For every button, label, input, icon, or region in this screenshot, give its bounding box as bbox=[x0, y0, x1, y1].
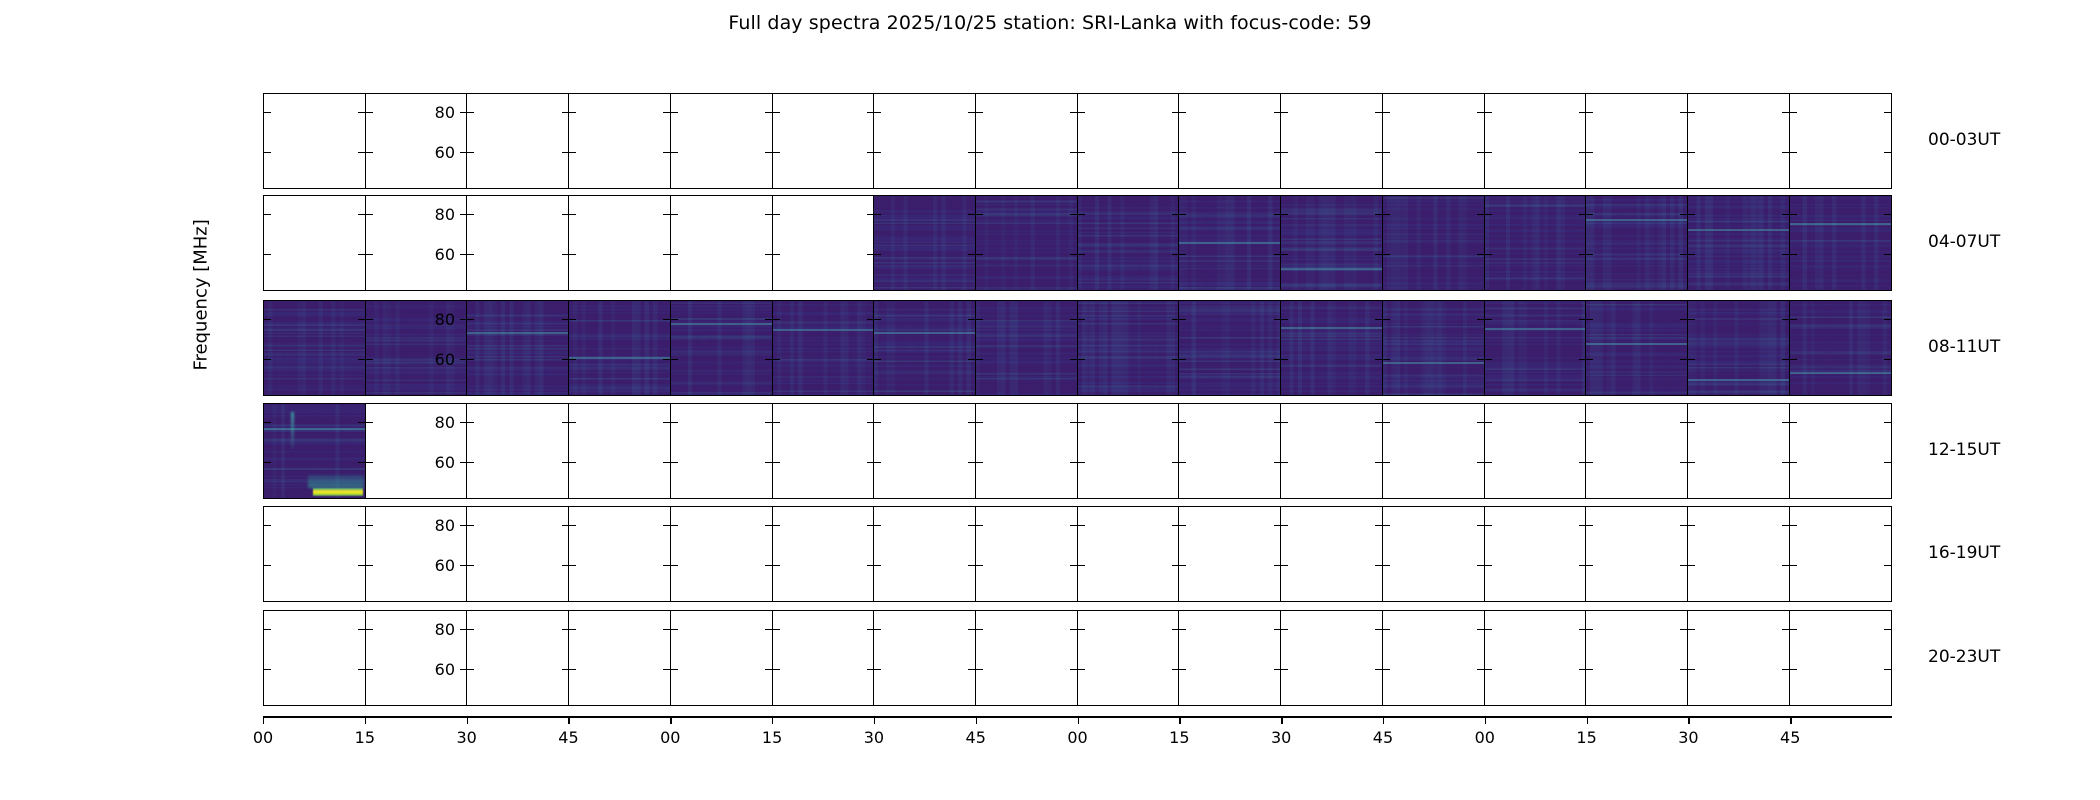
empty-panel bbox=[1688, 507, 1789, 601]
y-tick-mark bbox=[1485, 629, 1492, 630]
y-tick-mark bbox=[1078, 319, 1085, 320]
y-tick-mark bbox=[773, 629, 780, 630]
spectrogram-panel[interactable] bbox=[1484, 195, 1587, 291]
empty-panel bbox=[569, 196, 670, 290]
y-tick-mark bbox=[1790, 359, 1797, 360]
spectrogram-panel[interactable] bbox=[1484, 300, 1587, 396]
y-tick-mark bbox=[264, 629, 271, 630]
x-tick-label: 30 bbox=[1271, 728, 1291, 747]
y-tick-mark bbox=[569, 112, 576, 113]
y-tick-mark bbox=[773, 319, 780, 320]
y-tick-mark bbox=[366, 319, 373, 320]
y-tick-mark bbox=[1383, 669, 1390, 670]
y-tick-mark bbox=[264, 152, 271, 153]
x-tick-mark bbox=[1587, 716, 1588, 724]
y-tick-mark bbox=[1179, 462, 1186, 463]
y-tick-mark bbox=[1485, 669, 1492, 670]
spectrogram-panel[interactable] bbox=[1687, 403, 1790, 499]
spectrogram-panel[interactable] bbox=[1687, 300, 1790, 396]
spectrogram-panel[interactable] bbox=[1382, 403, 1485, 499]
spectrogram-panel[interactable] bbox=[670, 300, 773, 396]
y-tick-mark bbox=[1281, 669, 1288, 670]
empty-panel bbox=[874, 94, 975, 188]
y-tick-mark bbox=[874, 422, 881, 423]
spectral-line bbox=[1790, 372, 1891, 374]
y-tick-label: 60 bbox=[395, 556, 455, 575]
spectrogram-panel[interactable] bbox=[1382, 195, 1485, 291]
spectrogram-panel[interactable] bbox=[1280, 195, 1383, 291]
y-tick-mark bbox=[1586, 112, 1593, 113]
spectrogram-panel[interactable] bbox=[1077, 195, 1180, 291]
y-tick-mark bbox=[1688, 525, 1695, 526]
y-tick-mark bbox=[569, 359, 576, 360]
spectrogram-panel[interactable] bbox=[1484, 610, 1587, 706]
y-tick-mark bbox=[264, 319, 271, 320]
y-tick-mark bbox=[1586, 629, 1593, 630]
spectrogram-noise bbox=[1790, 196, 1891, 290]
spectral-line bbox=[1790, 223, 1891, 225]
y-tick-mark bbox=[671, 152, 678, 153]
spectrogram-panel[interactable] bbox=[1077, 93, 1180, 189]
spectral-line bbox=[1688, 379, 1789, 381]
y-tick-mark bbox=[467, 112, 474, 113]
spectrogram-image bbox=[264, 404, 365, 498]
spectrogram-panel[interactable] bbox=[1280, 93, 1383, 189]
y-tick-mark bbox=[1281, 319, 1288, 320]
x-tick-label: 15 bbox=[1576, 728, 1596, 747]
spectrogram-panel[interactable] bbox=[1789, 195, 1892, 291]
y-tick-mark bbox=[264, 462, 271, 463]
spectral-line bbox=[1179, 242, 1280, 244]
spectrogram-panel[interactable] bbox=[670, 195, 773, 291]
y-tick-mark bbox=[1179, 669, 1186, 670]
spectrogram-panel[interactable] bbox=[466, 93, 569, 189]
y-tick-mark bbox=[1586, 525, 1593, 526]
y-tick-mark bbox=[976, 525, 983, 526]
y-tick-mark bbox=[1179, 629, 1186, 630]
spectrogram-panel[interactable] bbox=[1280, 506, 1383, 602]
spectrogram-image bbox=[1179, 301, 1280, 395]
y-tick-mark bbox=[1884, 462, 1891, 463]
spectrogram-panel[interactable] bbox=[263, 300, 366, 396]
spectral-line bbox=[1586, 219, 1687, 221]
spectrogram-panel[interactable] bbox=[1789, 300, 1892, 396]
y-tick-mark bbox=[1790, 525, 1797, 526]
x-tick-label: 45 bbox=[966, 728, 986, 747]
spectrogram-noise bbox=[773, 301, 874, 395]
spectrogram-panel[interactable] bbox=[1178, 300, 1281, 396]
spectrogram-panel[interactable] bbox=[1178, 195, 1281, 291]
y-tick-mark bbox=[773, 359, 780, 360]
spectrogram-panel[interactable] bbox=[466, 403, 569, 499]
y-tick-mark bbox=[1688, 462, 1695, 463]
y-tick-mark bbox=[1688, 422, 1695, 423]
empty-panel bbox=[671, 404, 772, 498]
row-label-20-23ut: 20-23UT bbox=[1928, 647, 2000, 667]
spectrogram-panel[interactable] bbox=[263, 195, 366, 291]
spectrogram-image bbox=[1383, 301, 1484, 395]
row-label-16-19ut: 16-19UT bbox=[1928, 543, 2000, 563]
spectrogram-panel[interactable] bbox=[772, 506, 875, 602]
spectrogram-panel[interactable] bbox=[670, 506, 773, 602]
spectrogram-panel[interactable] bbox=[1178, 610, 1281, 706]
y-tick-mark bbox=[569, 422, 576, 423]
empty-panel bbox=[773, 196, 874, 290]
empty-panel bbox=[264, 94, 365, 188]
y-tick-mark bbox=[874, 565, 881, 566]
empty-panel bbox=[467, 94, 568, 188]
x-tick-mark bbox=[365, 716, 366, 724]
spectrogram-image bbox=[874, 301, 975, 395]
spectral-line bbox=[467, 332, 568, 334]
empty-panel bbox=[976, 507, 1077, 601]
row-label-08-11ut: 08-11UT bbox=[1928, 337, 2000, 357]
spectrogram-panel[interactable] bbox=[1382, 93, 1485, 189]
spectrogram-image bbox=[874, 196, 975, 290]
y-tick-mark bbox=[264, 359, 271, 360]
y-tick-mark bbox=[366, 112, 373, 113]
empty-panel bbox=[1586, 611, 1687, 705]
spectrogram-panel[interactable] bbox=[873, 93, 976, 189]
empty-panel bbox=[1179, 404, 1280, 498]
y-tick-mark bbox=[1790, 669, 1797, 670]
spectrogram-noise bbox=[1281, 301, 1382, 395]
spectrogram-noise bbox=[976, 196, 1077, 290]
spectrogram-panel[interactable] bbox=[1280, 610, 1383, 706]
y-tick-mark bbox=[1884, 112, 1891, 113]
x-tick-mark bbox=[1383, 716, 1384, 724]
spectrogram-row-04-07ut bbox=[263, 195, 1892, 291]
y-tick-mark bbox=[1281, 214, 1288, 215]
y-tick-mark bbox=[1884, 525, 1891, 526]
y-tick-mark bbox=[569, 214, 576, 215]
spectrogram-panel[interactable] bbox=[873, 610, 976, 706]
y-tick-mark bbox=[467, 214, 474, 215]
y-tick-mark bbox=[1688, 669, 1695, 670]
spectrogram-panel[interactable] bbox=[466, 300, 569, 396]
y-tick-mark bbox=[1179, 112, 1186, 113]
spectrogram-panel[interactable] bbox=[975, 506, 1078, 602]
radio-burst-halo bbox=[308, 475, 364, 488]
spectrogram-image bbox=[976, 196, 1077, 290]
spectrogram-panel[interactable] bbox=[772, 93, 875, 189]
spectrogram-panel[interactable] bbox=[1789, 506, 1892, 602]
spectrogram-panel[interactable] bbox=[1077, 403, 1180, 499]
spectrogram-image bbox=[1281, 301, 1382, 395]
y-tick-mark bbox=[874, 112, 881, 113]
y-tick-mark bbox=[773, 214, 780, 215]
y-tick-mark bbox=[671, 669, 678, 670]
y-tick-mark bbox=[264, 525, 271, 526]
y-tick-mark bbox=[1281, 254, 1288, 255]
spectrogram-noise bbox=[1078, 301, 1179, 395]
y-tick-mark bbox=[264, 669, 271, 670]
x-tick-mark bbox=[1688, 716, 1689, 724]
y-tick-mark bbox=[1790, 112, 1797, 113]
x-tick-label: 15 bbox=[1169, 728, 1189, 747]
spectrogram-image bbox=[671, 301, 772, 395]
y-tick-label: 80 bbox=[395, 205, 455, 224]
spectrogram-panel[interactable] bbox=[1178, 403, 1281, 499]
spectral-line bbox=[1383, 362, 1484, 364]
y-tick-mark bbox=[1790, 462, 1797, 463]
spectrogram-panel[interactable] bbox=[466, 506, 569, 602]
spectrogram-panel[interactable] bbox=[1484, 93, 1587, 189]
empty-panel bbox=[1383, 94, 1484, 188]
y-tick-mark bbox=[1383, 319, 1390, 320]
y-tick-mark bbox=[467, 525, 474, 526]
spectrogram-row-00-03ut bbox=[263, 93, 1892, 189]
y-tick-label: 80 bbox=[395, 310, 455, 329]
x-tick-label: 15 bbox=[762, 728, 782, 747]
spectrogram-row-20-23ut bbox=[263, 610, 1892, 706]
y-tick-mark bbox=[1688, 214, 1695, 215]
y-tick-mark bbox=[1884, 422, 1891, 423]
y-tick-mark bbox=[1485, 525, 1492, 526]
y-tick-mark bbox=[1688, 254, 1695, 255]
spectrogram-panel[interactable] bbox=[466, 195, 569, 291]
y-tick-mark bbox=[1884, 359, 1891, 360]
empty-panel bbox=[1179, 94, 1280, 188]
spectral-line bbox=[874, 332, 975, 334]
y-tick-mark bbox=[773, 254, 780, 255]
spectrogram-panel[interactable] bbox=[1178, 506, 1281, 602]
spectrogram-image bbox=[1383, 196, 1484, 290]
y-tick-mark bbox=[1281, 462, 1288, 463]
spectrogram-noise bbox=[264, 301, 365, 395]
spectrogram-panel[interactable] bbox=[873, 300, 976, 396]
y-tick-mark bbox=[1586, 462, 1593, 463]
spectrogram-panel[interactable] bbox=[263, 403, 366, 499]
y-tick-mark bbox=[467, 422, 474, 423]
y-tick-mark bbox=[1078, 152, 1085, 153]
empty-panel bbox=[1383, 507, 1484, 601]
y-tick-mark bbox=[467, 565, 474, 566]
spectrogram-panel[interactable] bbox=[1077, 300, 1180, 396]
y-tick-mark bbox=[1383, 214, 1390, 215]
empty-panel bbox=[1586, 404, 1687, 498]
empty-panel bbox=[1586, 507, 1687, 601]
y-tick-mark bbox=[671, 629, 678, 630]
spectrogram-noise bbox=[1078, 196, 1179, 290]
spectrogram-panel[interactable] bbox=[568, 506, 671, 602]
spectrogram-panel[interactable] bbox=[1585, 610, 1688, 706]
x-tick-label: 45 bbox=[558, 728, 578, 747]
y-tick-mark bbox=[1790, 629, 1797, 630]
x-tick-mark bbox=[1281, 716, 1282, 724]
x-tick-mark bbox=[976, 716, 977, 724]
spectrogram-panel[interactable] bbox=[670, 93, 773, 189]
spectrogram-panel[interactable] bbox=[1687, 195, 1790, 291]
y-tick-mark bbox=[264, 254, 271, 255]
empty-panel bbox=[1078, 507, 1179, 601]
y-tick-mark bbox=[1485, 359, 1492, 360]
spectrogram-panel[interactable] bbox=[670, 403, 773, 499]
y-tick-mark bbox=[1884, 254, 1891, 255]
y-tick-mark bbox=[1383, 112, 1390, 113]
y-tick-mark bbox=[1383, 152, 1390, 153]
y-tick-mark bbox=[366, 629, 373, 630]
spectrogram-panel[interactable] bbox=[975, 300, 1078, 396]
spectrogram-panel[interactable] bbox=[263, 93, 366, 189]
spectrogram-noise bbox=[671, 301, 772, 395]
spectrogram-panel[interactable] bbox=[873, 403, 976, 499]
spectrogram-panel[interactable] bbox=[263, 610, 366, 706]
y-tick-mark bbox=[1179, 565, 1186, 566]
y-tick-label: 80 bbox=[395, 620, 455, 639]
empty-panel bbox=[976, 404, 1077, 498]
spectrogram-panel[interactable] bbox=[1280, 403, 1383, 499]
empty-panel bbox=[264, 611, 365, 705]
spectrogram-panel[interactable] bbox=[975, 195, 1078, 291]
y-tick-mark bbox=[467, 629, 474, 630]
spectrogram-panel[interactable] bbox=[1077, 506, 1180, 602]
empty-panel bbox=[1688, 404, 1789, 498]
y-tick-mark bbox=[1179, 525, 1186, 526]
spectrogram-panel[interactable] bbox=[568, 403, 671, 499]
x-tick-label: 00 bbox=[253, 728, 273, 747]
y-tick-mark bbox=[1383, 422, 1390, 423]
y-tick-mark bbox=[874, 669, 881, 670]
spectrogram-image bbox=[976, 301, 1077, 395]
spectrogram-image bbox=[1281, 196, 1382, 290]
spectrogram-panel[interactable] bbox=[1585, 506, 1688, 602]
spectrogram-panel[interactable] bbox=[873, 506, 976, 602]
y-tick-mark bbox=[976, 565, 983, 566]
spectrogram-image bbox=[1688, 196, 1789, 290]
spectrogram-panel[interactable] bbox=[1077, 610, 1180, 706]
spectrogram-panel[interactable] bbox=[568, 93, 671, 189]
x-tick-mark bbox=[467, 716, 468, 724]
spectrogram-panel[interactable] bbox=[1382, 300, 1485, 396]
x-tick-mark bbox=[874, 716, 875, 724]
spectrogram-panel[interactable] bbox=[1484, 506, 1587, 602]
spectrogram-panel[interactable] bbox=[1178, 93, 1281, 189]
y-tick-mark bbox=[671, 565, 678, 566]
spectrogram-panel[interactable] bbox=[670, 610, 773, 706]
y-tick-mark bbox=[1688, 565, 1695, 566]
empty-panel bbox=[1383, 404, 1484, 498]
spectrogram-image bbox=[773, 301, 874, 395]
y-tick-label: 80 bbox=[395, 516, 455, 535]
empty-panel bbox=[773, 611, 874, 705]
spectrogram-panel[interactable] bbox=[975, 610, 1078, 706]
empty-panel bbox=[467, 404, 568, 498]
spectrogram-noise bbox=[1688, 196, 1789, 290]
y-tick-mark bbox=[1281, 422, 1288, 423]
spectrogram-panel[interactable] bbox=[975, 403, 1078, 499]
spectrogram-panel[interactable] bbox=[568, 300, 671, 396]
spectrogram-panel[interactable] bbox=[466, 610, 569, 706]
spectrogram-panel[interactable] bbox=[772, 610, 875, 706]
spectrogram-panel[interactable] bbox=[772, 195, 875, 291]
spectrogram-noise bbox=[1485, 301, 1586, 395]
y-tick-mark bbox=[467, 152, 474, 153]
spectral-line bbox=[1281, 327, 1382, 329]
y-tick-mark bbox=[1078, 669, 1085, 670]
spectrogram-panel[interactable] bbox=[1687, 610, 1790, 706]
spectrogram-image bbox=[569, 301, 670, 395]
spectrogram-noise bbox=[569, 301, 670, 395]
y-tick-mark bbox=[569, 629, 576, 630]
y-tick-mark bbox=[264, 214, 271, 215]
spectrogram-panel[interactable] bbox=[772, 403, 875, 499]
spectral-line bbox=[1485, 328, 1586, 330]
y-tick-mark bbox=[366, 462, 373, 463]
y-tick-mark bbox=[366, 422, 373, 423]
spectrogram-panel[interactable] bbox=[1484, 403, 1587, 499]
spectrogram-panel[interactable] bbox=[1687, 93, 1790, 189]
spectrogram-panel[interactable] bbox=[1789, 403, 1892, 499]
y-tick-mark bbox=[1078, 359, 1085, 360]
y-tick-label: 60 bbox=[395, 453, 455, 472]
x-tick-mark bbox=[670, 716, 671, 724]
y-tick-mark bbox=[569, 565, 576, 566]
y-tick-mark bbox=[1179, 422, 1186, 423]
y-tick-mark bbox=[366, 669, 373, 670]
y-tick-mark bbox=[874, 152, 881, 153]
y-tick-mark bbox=[671, 112, 678, 113]
y-tick-mark bbox=[874, 359, 881, 360]
y-tick-mark bbox=[1485, 112, 1492, 113]
spectrogram-panel[interactable] bbox=[1382, 610, 1485, 706]
spectrogram-panel[interactable] bbox=[1382, 506, 1485, 602]
spectrogram-panel[interactable] bbox=[1789, 610, 1892, 706]
y-tick-label: 80 bbox=[395, 103, 455, 122]
y-tick-mark bbox=[773, 152, 780, 153]
spectrogram-image bbox=[1688, 301, 1789, 395]
x-tick-mark bbox=[263, 716, 264, 724]
spectrogram-panel[interactable] bbox=[873, 195, 976, 291]
spectrogram-noise bbox=[1485, 196, 1586, 290]
y-tick-mark bbox=[467, 319, 474, 320]
empty-panel bbox=[1281, 94, 1382, 188]
y-tick-mark bbox=[1281, 359, 1288, 360]
y-tick-mark bbox=[1485, 214, 1492, 215]
y-tick-mark bbox=[671, 214, 678, 215]
y-tick-mark bbox=[1884, 565, 1891, 566]
spectrogram-panel[interactable] bbox=[1789, 93, 1892, 189]
y-tick-mark bbox=[773, 565, 780, 566]
spectrogram-panel[interactable] bbox=[975, 93, 1078, 189]
y-tick-mark bbox=[1078, 214, 1085, 215]
spectrogram-panel[interactable] bbox=[1585, 195, 1688, 291]
x-tick-label: 45 bbox=[1780, 728, 1800, 747]
spectrogram-panel[interactable] bbox=[1585, 93, 1688, 189]
spectrogram-panel[interactable] bbox=[263, 506, 366, 602]
y-tick-mark bbox=[1586, 565, 1593, 566]
y-tick-mark bbox=[569, 462, 576, 463]
spectrogram-panel[interactable] bbox=[1687, 506, 1790, 602]
spectrogram-noise bbox=[874, 301, 975, 395]
y-tick-mark bbox=[1790, 319, 1797, 320]
spectrogram-noise bbox=[1383, 196, 1484, 290]
y-tick-mark bbox=[976, 254, 983, 255]
y-tick-mark bbox=[671, 462, 678, 463]
empty-panel bbox=[1281, 611, 1382, 705]
empty-panel bbox=[467, 507, 568, 601]
spectrogram-panel[interactable] bbox=[568, 195, 671, 291]
spectrogram-panel[interactable] bbox=[772, 300, 875, 396]
spectrogram-panel[interactable] bbox=[568, 610, 671, 706]
spectrogram-panel[interactable] bbox=[1585, 403, 1688, 499]
row-label-04-07ut: 04-07UT bbox=[1928, 232, 2000, 252]
spectrogram-panel[interactable] bbox=[1280, 300, 1383, 396]
y-tick-mark bbox=[366, 525, 373, 526]
row-label-12-15ut: 12-15UT bbox=[1928, 440, 2000, 460]
empty-panel bbox=[264, 507, 365, 601]
spectrogram-panel[interactable] bbox=[1585, 300, 1688, 396]
